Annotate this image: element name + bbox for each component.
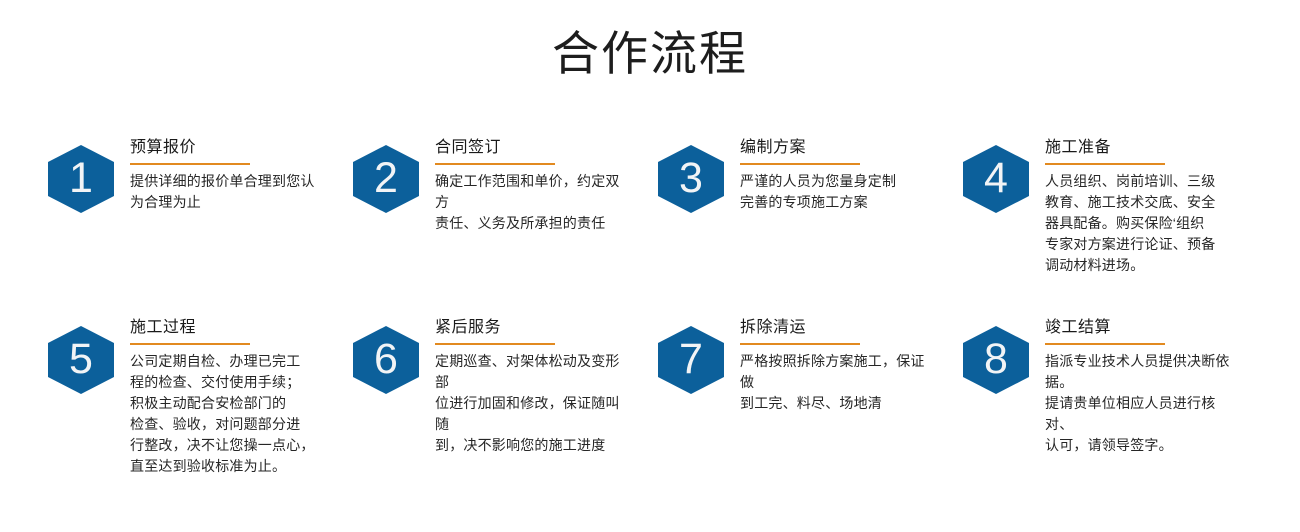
step-title: 紧后服务 <box>435 317 658 338</box>
step-description: 严谨的人员为您量身定制 完善的专项施工方案 <box>740 171 933 213</box>
step-description: 严格按照拆除方案施工，保证做 到工完、料尽、场地清 <box>740 351 933 414</box>
step-description: 提供详细的报价单合理到您认 为合理为止 <box>130 171 323 213</box>
step-content-8: 竣工结算 指派专业技术人员提供决断依据。 提请贵单位相应人员进行核对、 认可，请… <box>1029 306 1268 456</box>
step-content-4: 施工准备 人员组织、岗前培训、三级 教育、施工技术交底、安全 器具配备。购买保险… <box>1029 126 1268 276</box>
hexagon-icon: 3 <box>658 145 724 213</box>
hexagon-icon: 6 <box>353 326 419 394</box>
step-description: 指派专业技术人员提供决断依据。 提请贵单位相应人员进行核对、 认可，请领导签字。 <box>1045 351 1238 456</box>
step-divider <box>1045 163 1165 165</box>
step-description: 人员组织、岗前培训、三级 教育、施工技术交底、安全 器具配备。购买保险‘组织 专… <box>1045 171 1238 276</box>
hexagon-icon: 4 <box>963 145 1029 213</box>
step-content-1: 预算报价 提供详细的报价单合理到您认 为合理为止 <box>114 126 353 213</box>
step-divider <box>435 163 555 165</box>
step-content-7: 拆除清运 严格按照拆除方案施工，保证做 到工完、料尽、场地清 <box>724 306 963 414</box>
step-divider <box>130 343 250 345</box>
step-description: 确定工作范围和单价，约定双方 责任、义务及所承担的责任 <box>435 171 628 234</box>
step-title: 施工准备 <box>1045 137 1268 158</box>
step-item-1[interactable]: 1 预算报价 提供详细的报价单合理到您认 为合理为止 <box>48 126 353 306</box>
step-divider <box>1045 343 1165 345</box>
step-number-badge-6: 6 <box>353 326 419 394</box>
step-title: 施工过程 <box>130 317 353 338</box>
step-number-label: 2 <box>374 157 398 200</box>
step-item-6[interactable]: 6 紧后服务 定期巡查、对架体松动及变形部 位进行加固和修改，保证随叫随 到，决… <box>353 306 658 477</box>
step-item-3[interactable]: 3 编制方案 严谨的人员为您量身定制 完善的专项施工方案 <box>658 126 963 306</box>
step-number-label: 1 <box>69 157 93 200</box>
step-item-2[interactable]: 2 合同签订 确定工作范围和单价，约定双方 责任、义务及所承担的责任 <box>353 126 658 306</box>
step-divider <box>435 343 555 345</box>
step-content-3: 编制方案 严谨的人员为您量身定制 完善的专项施工方案 <box>724 126 963 213</box>
step-number-label: 5 <box>69 338 93 381</box>
step-number-badge-7: 7 <box>658 326 724 394</box>
step-item-5[interactable]: 5 施工过程 公司定期自检、办理已完工 程的检查、交付使用手续； 积极主动配合安… <box>48 306 353 477</box>
step-description: 公司定期自检、办理已完工 程的检查、交付使用手续； 积极主动配合安检部门的 检查… <box>130 351 323 477</box>
step-number-label: 4 <box>984 157 1008 200</box>
step-item-8[interactable]: 8 竣工结算 指派专业技术人员提供决断依据。 提请贵单位相应人员进行核对、 认可… <box>963 306 1268 477</box>
step-description: 定期巡查、对架体松动及变形部 位进行加固和修改，保证随叫随 到，决不影响您的施工… <box>435 351 628 456</box>
step-title: 预算报价 <box>130 137 353 158</box>
step-content-5: 施工过程 公司定期自检、办理已完工 程的检查、交付使用手续； 积极主动配合安检部… <box>114 306 353 477</box>
step-divider <box>740 163 860 165</box>
step-number-badge-3: 3 <box>658 145 724 213</box>
hexagon-icon: 8 <box>963 326 1029 394</box>
step-divider <box>740 343 860 345</box>
step-number-label: 6 <box>374 338 398 381</box>
step-title: 竣工结算 <box>1045 317 1268 338</box>
hexagon-icon: 5 <box>48 326 114 394</box>
step-content-6: 紧后服务 定期巡查、对架体松动及变形部 位进行加固和修改，保证随叫随 到，决不影… <box>419 306 658 456</box>
step-number-label: 7 <box>679 338 703 381</box>
step-number-badge-1: 1 <box>48 145 114 213</box>
process-steps-grid: 1 预算报价 提供详细的报价单合理到您认 为合理为止 2 合同签订 确定工作范围… <box>0 126 1300 477</box>
step-title: 拆除清运 <box>740 317 963 338</box>
hexagon-icon: 2 <box>353 145 419 213</box>
step-number-badge-8: 8 <box>963 326 1029 394</box>
step-item-4[interactable]: 4 施工准备 人员组织、岗前培训、三级 教育、施工技术交底、安全 器具配备。购买… <box>963 126 1268 306</box>
step-number-badge-5: 5 <box>48 326 114 394</box>
step-item-7[interactable]: 7 拆除清运 严格按照拆除方案施工，保证做 到工完、料尽、场地清 <box>658 306 963 477</box>
step-title: 编制方案 <box>740 137 963 158</box>
step-number-label: 3 <box>679 157 703 200</box>
page-title: 合作流程 <box>0 24 1300 84</box>
step-number-label: 8 <box>984 338 1008 381</box>
step-number-badge-4: 4 <box>963 145 1029 213</box>
hexagon-icon: 1 <box>48 145 114 213</box>
step-divider <box>130 163 250 165</box>
step-title: 合同签订 <box>435 137 658 158</box>
step-number-badge-2: 2 <box>353 145 419 213</box>
hexagon-icon: 7 <box>658 326 724 394</box>
step-content-2: 合同签订 确定工作范围和单价，约定双方 责任、义务及所承担的责任 <box>419 126 658 234</box>
